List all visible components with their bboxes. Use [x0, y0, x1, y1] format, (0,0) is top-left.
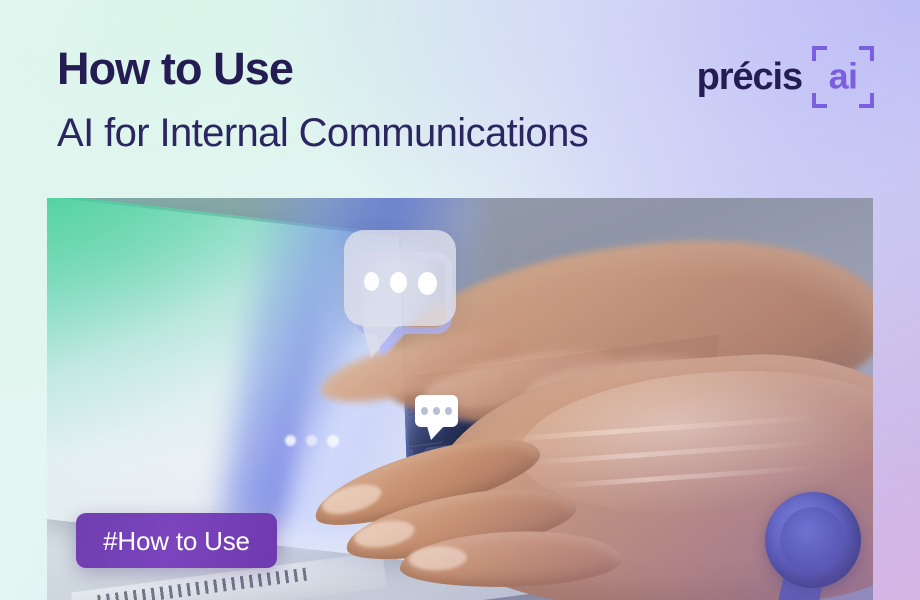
page-subtitle: AI for Internal Communications	[57, 113, 588, 153]
brand-logo[interactable]: précis ai	[697, 46, 874, 108]
hashtag-badge[interactable]: #How to Use	[76, 513, 277, 568]
page-background: How to Use AI for Internal Communication…	[0, 0, 920, 600]
wrist-watch	[765, 492, 861, 588]
logo-ai-text: ai	[812, 58, 874, 94]
watch-face	[780, 507, 845, 572]
page-title: How to Use	[57, 46, 588, 91]
header: How to Use AI for Internal Communication…	[0, 0, 920, 198]
bracket-bottom-left-icon	[812, 93, 827, 108]
title-block: How to Use AI for Internal Communication…	[57, 46, 588, 153]
bracket-bottom-right-icon	[859, 93, 874, 108]
logo-wordmark: précis	[697, 58, 802, 96]
logo-ai-mark: ai	[812, 46, 874, 108]
hashtag-badge-label: #How to Use	[103, 528, 250, 554]
